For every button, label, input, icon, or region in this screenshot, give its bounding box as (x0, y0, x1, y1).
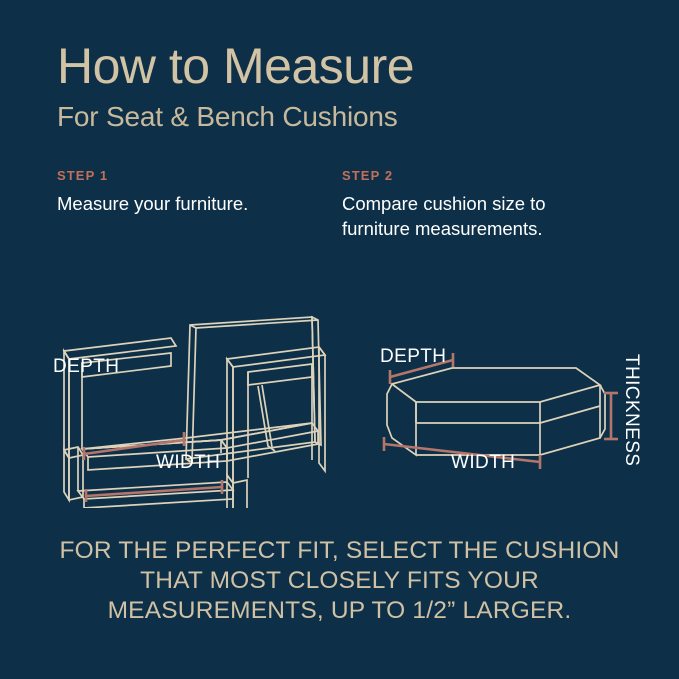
footer-line-2: THAT MOST CLOSELY FITS YOUR (0, 566, 679, 596)
infographic-root: How to Measure For Seat & Bench Cushions… (0, 0, 679, 679)
chair-depth-label: DEPTH (53, 356, 119, 377)
cushion-depth-label: DEPTH (380, 346, 446, 367)
chair-width-label: WIDTH (156, 452, 220, 473)
footer: FOR THE PERFECT FIT, SELECT THE CUSHION … (0, 536, 679, 626)
cushion-width-label: WIDTH (451, 452, 515, 473)
cushion-right-edge (540, 406, 600, 423)
cushion-diagram-group: DEPTH WIDTH THICKNESS (380, 346, 642, 473)
page-subtitle: For Seat & Bench Cushions (57, 100, 637, 134)
step-1-kicker: STEP 1 (57, 168, 342, 183)
chair-diagram-group: DEPTH WIDTH (53, 317, 325, 508)
cushion-top-face (392, 368, 600, 402)
cushion-front-edge (416, 402, 540, 423)
illustrations: .fl { fill: none; stroke: #ddd2ba; strok… (0, 246, 679, 508)
cushion-thickness-label: THICKNESS (621, 354, 642, 466)
step-2-kicker: STEP 2 (342, 168, 627, 183)
cushion-thickness-dimension (604, 393, 618, 439)
cushion-bottom-edge (416, 385, 600, 455)
footer-line-3: MEASUREMENTS, UP TO 1/2” LARGER. (0, 596, 679, 626)
step-2: STEP 2 Compare cushion size to furniture… (342, 168, 627, 241)
footer-line-1: FOR THE PERFECT FIT, SELECT THE CUSHION (0, 536, 679, 566)
steps-row: STEP 1 Measure your furniture. STEP 2 Co… (57, 168, 627, 241)
header: How to Measure For Seat & Bench Cushions (57, 38, 637, 134)
page-title: How to Measure (57, 38, 637, 94)
step-1-text: Measure your furniture. (57, 191, 312, 216)
step-2-text: Compare cushion size to furniture measur… (342, 191, 597, 241)
step-1: STEP 1 Measure your furniture. (57, 168, 342, 241)
